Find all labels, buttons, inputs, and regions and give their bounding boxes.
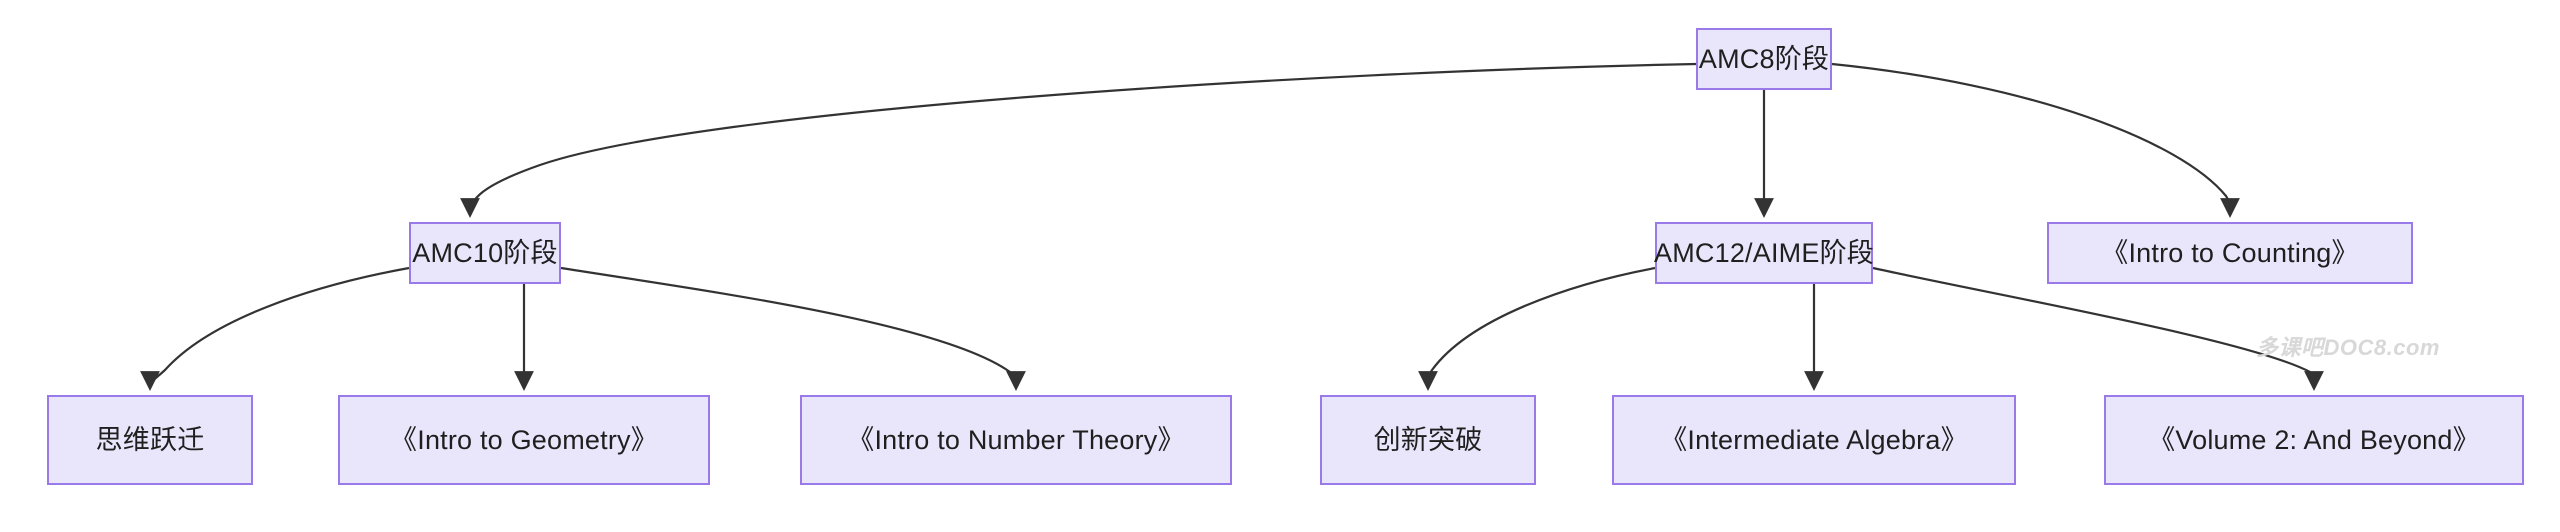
edge-amc8-to-counting — [1832, 64, 2230, 214]
node-innovation-breakthrough[interactable]: 创新突破 — [1320, 395, 1536, 485]
edge-amc12-to-volume2 — [1873, 268, 2314, 387]
node-thinking-leap[interactable]: 思维跃迁 — [47, 395, 253, 485]
node-label: 《Volume 2: And Beyond》 — [2138, 424, 2490, 456]
node-label: AMC8阶段 — [1689, 43, 1839, 75]
flowchart-canvas: AMC8阶段 AMC10阶段 AMC12/AIME阶段 《Intro to Co… — [0, 0, 2560, 532]
node-label: 《Intro to Counting》 — [2091, 237, 2368, 269]
edge-amc12-to-innovate — [1428, 268, 1655, 387]
node-label: 《Intro to Geometry》 — [380, 424, 668, 456]
watermark-label: 多课吧DOC8.com — [2256, 330, 2440, 362]
node-intro-to-geometry[interactable]: 《Intro to Geometry》 — [338, 395, 710, 485]
node-intro-to-number-theory[interactable]: 《Intro to Number Theory》 — [800, 395, 1232, 485]
node-label: 创新突破 — [1364, 424, 1493, 456]
node-label: 思维跃迁 — [86, 424, 215, 456]
node-intro-to-counting[interactable]: 《Intro to Counting》 — [2047, 222, 2413, 284]
node-amc10-stage[interactable]: AMC10阶段 — [409, 222, 561, 284]
edge-amc10-to-numtheory — [561, 268, 1016, 387]
node-amc12-aime-stage[interactable]: AMC12/AIME阶段 — [1655, 222, 1873, 284]
node-amc8-stage[interactable]: AMC8阶段 — [1696, 28, 1832, 90]
edge-amc10-to-think — [150, 268, 409, 387]
edge-amc8-to-amc10 — [470, 64, 1696, 214]
node-label: 《Intro to Number Theory》 — [837, 424, 1194, 456]
node-label: 《Intermediate Algebra》 — [1650, 424, 1978, 456]
node-label: AMC12/AIME阶段 — [1644, 237, 1884, 269]
node-intermediate-algebra[interactable]: 《Intermediate Algebra》 — [1612, 395, 2016, 485]
node-label: AMC10阶段 — [402, 237, 567, 269]
node-volume-2-and-beyond[interactable]: 《Volume 2: And Beyond》 — [2104, 395, 2524, 485]
